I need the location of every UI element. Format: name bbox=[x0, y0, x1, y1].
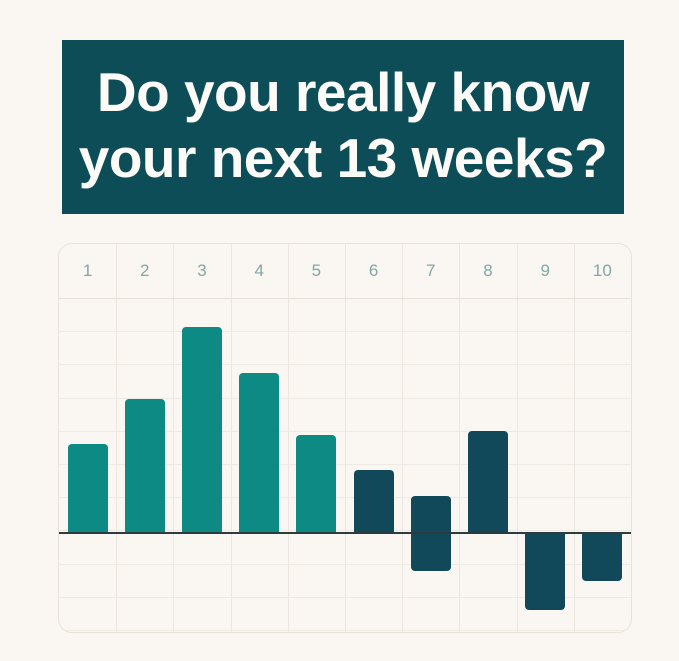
bar-2[interactable] bbox=[125, 399, 165, 532]
bar-5[interactable] bbox=[296, 435, 336, 532]
title-banner: Do you really know your next 13 weeks? bbox=[62, 40, 624, 214]
grid-vline bbox=[517, 244, 518, 632]
grid-vline bbox=[345, 244, 346, 632]
grid-vline bbox=[116, 244, 117, 632]
grid-vline bbox=[288, 244, 289, 632]
bar-3[interactable] bbox=[182, 327, 222, 532]
bar-9[interactable] bbox=[525, 532, 565, 610]
bar-4[interactable] bbox=[239, 373, 279, 532]
title-line-1: Do you really know bbox=[97, 59, 589, 125]
screenshot-root: Do you really know your next 13 weeks? 1… bbox=[0, 0, 679, 661]
bar-10[interactable] bbox=[582, 532, 622, 581]
grid-hline bbox=[59, 630, 631, 631]
column-header-4[interactable]: 4 bbox=[231, 244, 288, 298]
bar-6[interactable] bbox=[354, 470, 394, 532]
column-header-10[interactable]: 10 bbox=[574, 244, 631, 298]
grid-vline bbox=[402, 244, 403, 632]
column-header-8[interactable]: 8 bbox=[459, 244, 516, 298]
bar-1[interactable] bbox=[68, 444, 108, 532]
grid-vline bbox=[173, 244, 174, 632]
column-header-2[interactable]: 2 bbox=[116, 244, 173, 298]
title-line-2: your next 13 weeks? bbox=[79, 125, 608, 191]
column-header-9[interactable]: 9 bbox=[517, 244, 574, 298]
grid-vline bbox=[574, 244, 575, 632]
column-header-5[interactable]: 5 bbox=[288, 244, 345, 298]
header-separator bbox=[59, 298, 631, 299]
grid-hline bbox=[59, 331, 631, 332]
grid-vline bbox=[459, 244, 460, 632]
column-header-1[interactable]: 1 bbox=[59, 244, 116, 298]
column-header-3[interactable]: 3 bbox=[173, 244, 230, 298]
bar-chart-card: 12345678910 bbox=[58, 243, 632, 633]
bar-8[interactable] bbox=[468, 431, 508, 532]
zero-axis-line bbox=[59, 532, 631, 534]
grid-hline bbox=[59, 364, 631, 365]
column-header-6[interactable]: 6 bbox=[345, 244, 402, 298]
column-header-7[interactable]: 7 bbox=[402, 244, 459, 298]
grid-vline bbox=[231, 244, 232, 632]
